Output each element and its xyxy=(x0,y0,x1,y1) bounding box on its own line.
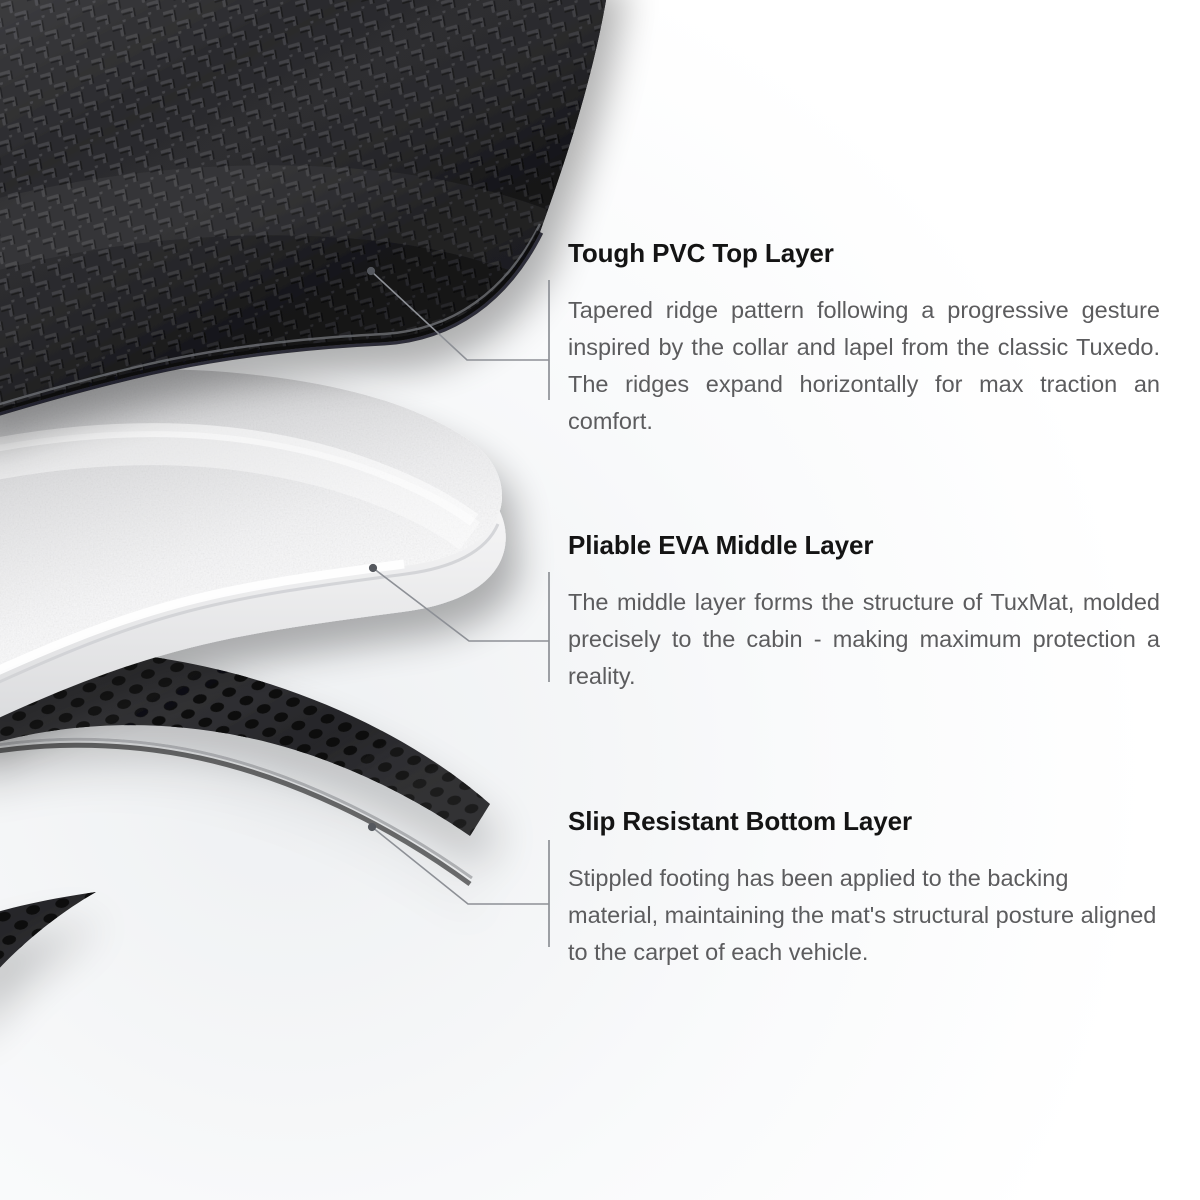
callout-body: Tapered ridge pattern following a progre… xyxy=(568,292,1160,440)
callout-body: Stippled footing has been applied to the… xyxy=(568,860,1160,971)
callout-eva-middle-layer: Pliable EVA Middle Layer The middle laye… xyxy=(568,532,1160,695)
callout-pvc-top-layer: Tough PVC Top Layer Tapered ridge patter… xyxy=(568,240,1160,440)
callout-title: Tough PVC Top Layer xyxy=(568,240,1160,266)
callout-title: Pliable EVA Middle Layer xyxy=(568,532,1160,558)
callout-slip-resistant-bottom-layer: Slip Resistant Bottom Layer Stippled foo… xyxy=(568,808,1160,971)
infographic-canvas: Tough PVC Top Layer Tapered ridge patter… xyxy=(0,0,1200,1200)
callout-title: Slip Resistant Bottom Layer xyxy=(568,808,1160,834)
callout-body: The middle layer forms the structure of … xyxy=(568,584,1160,695)
